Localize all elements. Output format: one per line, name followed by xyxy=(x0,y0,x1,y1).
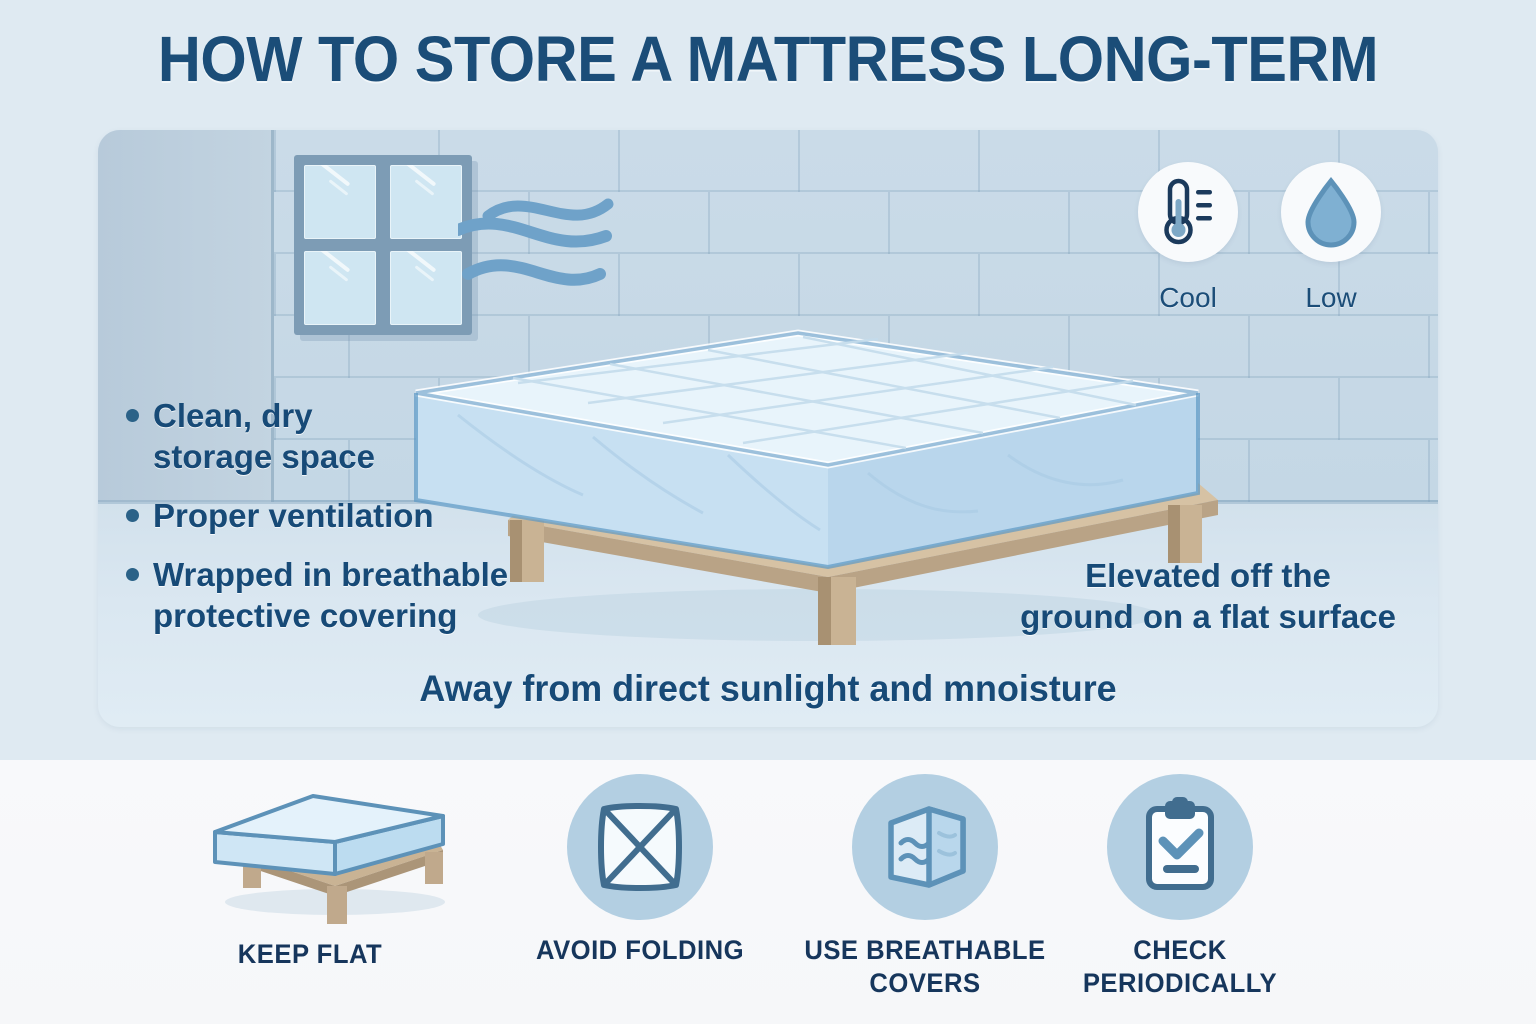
page-title: HOW TO STORE A MATTRESS LONG-TERM xyxy=(54,22,1482,96)
mattress-on-frame-icon xyxy=(180,774,480,924)
breathable-cover-block-icon xyxy=(875,797,975,897)
footer-item-label: AVOID FOLDING xyxy=(517,934,764,967)
humidity-badge xyxy=(1281,162,1381,262)
sunlight-moisture-note: Away from direct sunlight and mnoisture xyxy=(118,668,1418,710)
clipboard-check-icon xyxy=(1135,797,1225,897)
water-droplet-icon xyxy=(1302,176,1360,248)
footer-item-keep-flat: KEEP FLAT xyxy=(180,774,440,971)
icon-circle xyxy=(852,774,998,920)
window-pane xyxy=(304,251,376,325)
icon-circle xyxy=(567,774,713,920)
footer-item-check-periodically: CHECK PERIODICALLY xyxy=(1050,774,1310,1000)
window-icon xyxy=(294,155,472,335)
thermometer-icon xyxy=(1157,177,1219,247)
footer-item-label: KEEP FLAT xyxy=(187,938,434,971)
bullet-dot xyxy=(126,409,139,422)
list-item-label: Proper ventilation xyxy=(153,495,434,536)
temperature-badge xyxy=(1138,162,1238,262)
icon-circle xyxy=(1107,774,1253,920)
temperature-badge-label: Cool xyxy=(1118,282,1258,314)
window-pane xyxy=(304,165,376,239)
list-item-label: Clean, dry storage space xyxy=(153,395,375,477)
list-item: Proper ventilation xyxy=(126,495,626,536)
footer-item-avoid-folding: AVOID FOLDING xyxy=(510,774,770,967)
window-pane xyxy=(390,165,462,239)
illustration-panel: Cool Low Clean, dry storage space Proper… xyxy=(98,130,1438,727)
window-pane xyxy=(390,251,462,325)
folded-mattress-crossed-out-icon xyxy=(592,799,688,895)
humidity-badge-label: Low xyxy=(1261,282,1401,314)
bullet-dot xyxy=(126,568,139,581)
storage-conditions-list: Clean, dry storage space Proper ventilat… xyxy=(126,395,626,654)
elevation-note: Elevated off the ground on a flat surfac… xyxy=(988,555,1428,637)
list-item-label: Wrapped in breathable protective coverin… xyxy=(153,554,508,636)
footer-item-label: CHECK PERIODICALLY xyxy=(1057,934,1304,1000)
footer-item-label: USE BREATHABLE COVERS xyxy=(802,934,1049,1000)
list-item: Wrapped in breathable protective coverin… xyxy=(126,554,626,636)
footer-tips-bar: KEEP FLAT AVOID FOLDING xyxy=(0,760,1536,1024)
bullet-dot xyxy=(126,509,139,522)
airflow-waves-icon xyxy=(458,178,688,308)
footer-item-use-breathable-covers: USE BREATHABLE COVERS xyxy=(795,774,1055,1000)
list-item: Clean, dry storage space xyxy=(126,395,626,477)
